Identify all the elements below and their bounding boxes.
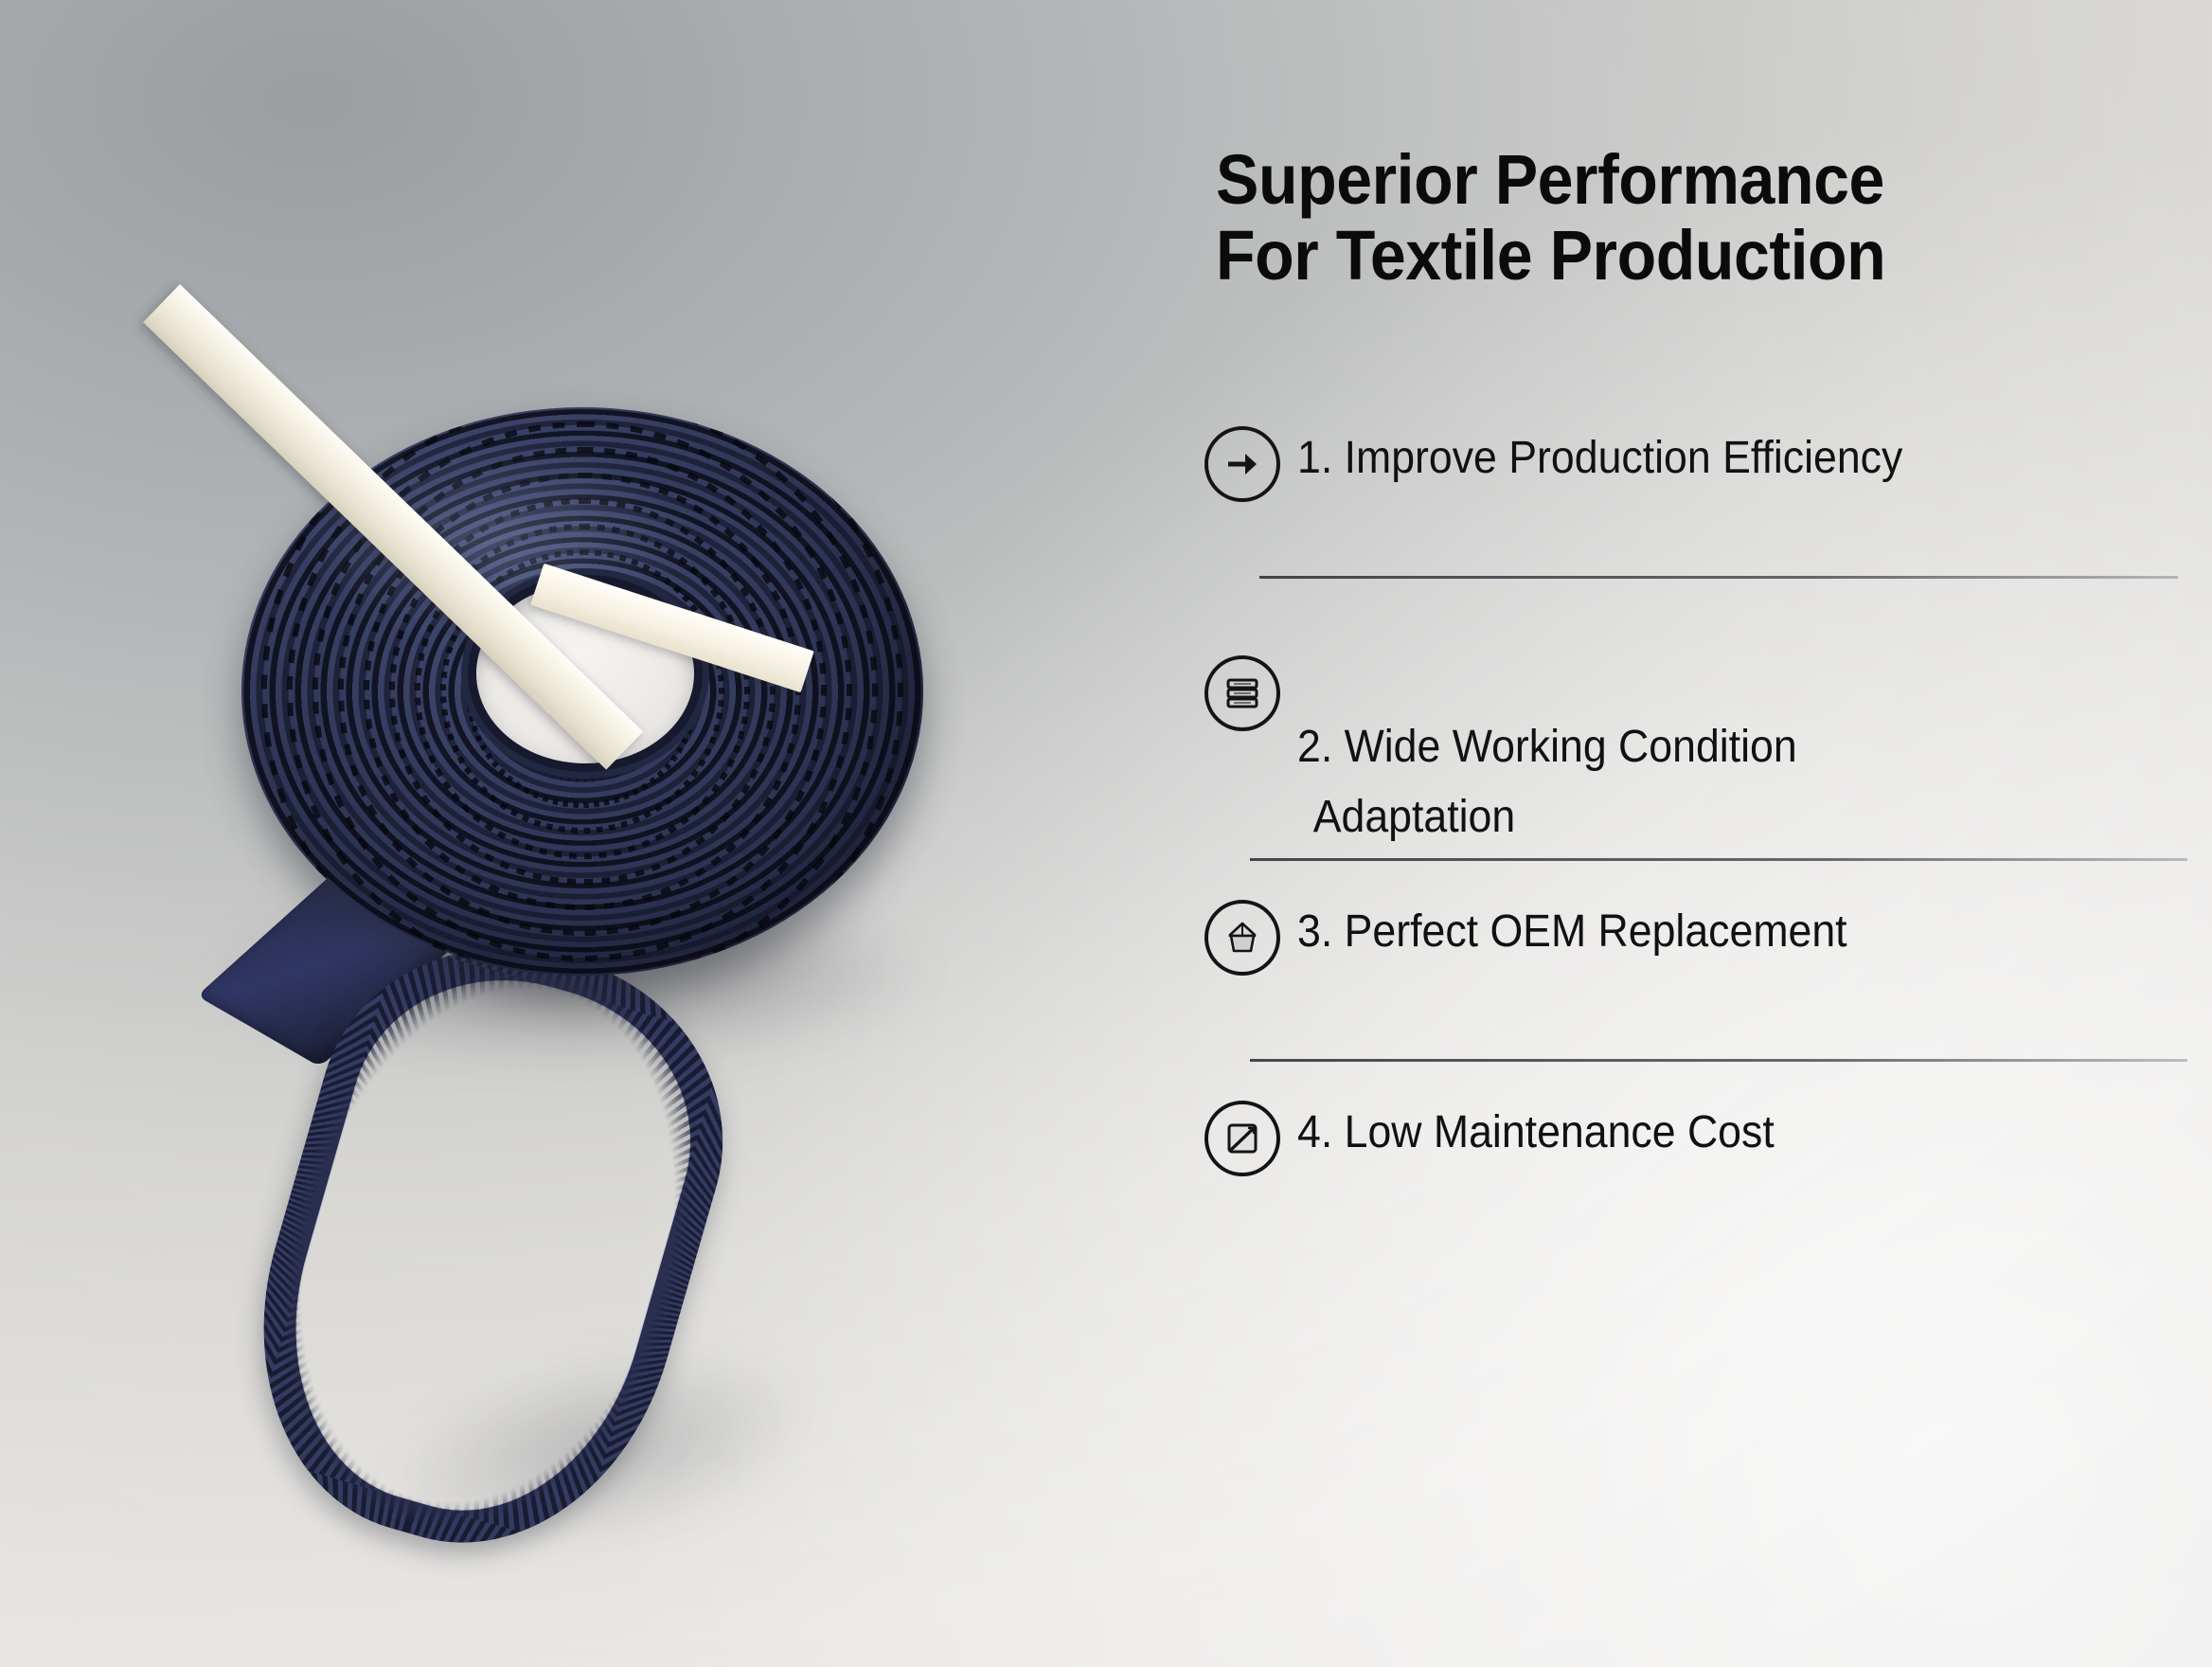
feature-item-improve-production-efficiency: 1. Improve Production Efficiency [1204, 424, 2212, 502]
content-panel: Superior Performance For Textile Product… [1204, 0, 2212, 1667]
feature-label: 1. Improve Production Efficiency [1297, 424, 1902, 488]
trend-line-square-icon [1204, 1101, 1280, 1176]
page-title: Superior Performance For Textile Product… [1216, 142, 2122, 294]
feature-label-line1: 2. Wide Working Condition [1297, 722, 1797, 772]
feature-label-line2: Adaptation [1297, 787, 1797, 847]
feature-divider-2 [1250, 858, 2187, 861]
feature-item-perfect-oem-replacement: 3. Perfect OEM Replacement [1204, 898, 2212, 976]
feature-divider-1 [1259, 576, 2178, 579]
feature-label: 3. Perfect OEM Replacement [1297, 898, 1847, 961]
package-box-icon [1204, 900, 1280, 976]
feature-divider-3 [1250, 1059, 2187, 1062]
feature-item-low-maintenance-cost: 4. Low Maintenance Cost [1204, 1099, 2212, 1176]
feature-label: 4. Low Maintenance Cost [1297, 1099, 1775, 1162]
arrow-right-icon [1204, 426, 1280, 502]
timing-belt-loop [284, 947, 776, 1553]
product-photo [0, 0, 1165, 1667]
feature-item-wide-working-condition-adaptation: 2. Wide Working Condition Adaptation [1204, 654, 2212, 906]
promo-banner: Superior Performance For Textile Product… [0, 0, 2212, 1667]
stacked-layers-icon [1204, 655, 1280, 731]
feature-label: 2. Wide Working Condition Adaptation [1297, 654, 1797, 906]
